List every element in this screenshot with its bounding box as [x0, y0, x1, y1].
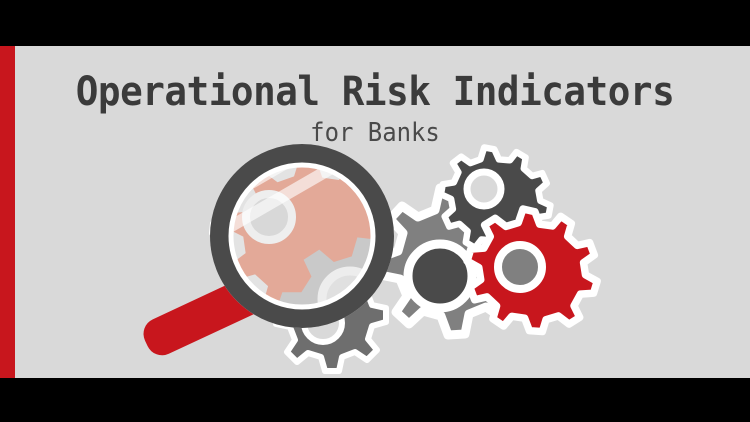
accent-bar-left: [0, 46, 15, 378]
slide-root: Operational Risk Indicators for Banks: [0, 0, 750, 422]
title-block: Operational Risk Indicators for Banks: [0, 46, 750, 148]
slide-canvas: Operational Risk Indicators for Banks: [0, 46, 750, 378]
letterbox-bar-bottom: [0, 378, 750, 422]
illustration-magnifier-gears: [130, 141, 620, 378]
page-subtitle: for Banks: [30, 113, 720, 148]
letterbox-bar-top: [0, 0, 750, 46]
gear-small-red: [463, 205, 602, 335]
page-title: Operational Risk Indicators: [23, 46, 728, 113]
